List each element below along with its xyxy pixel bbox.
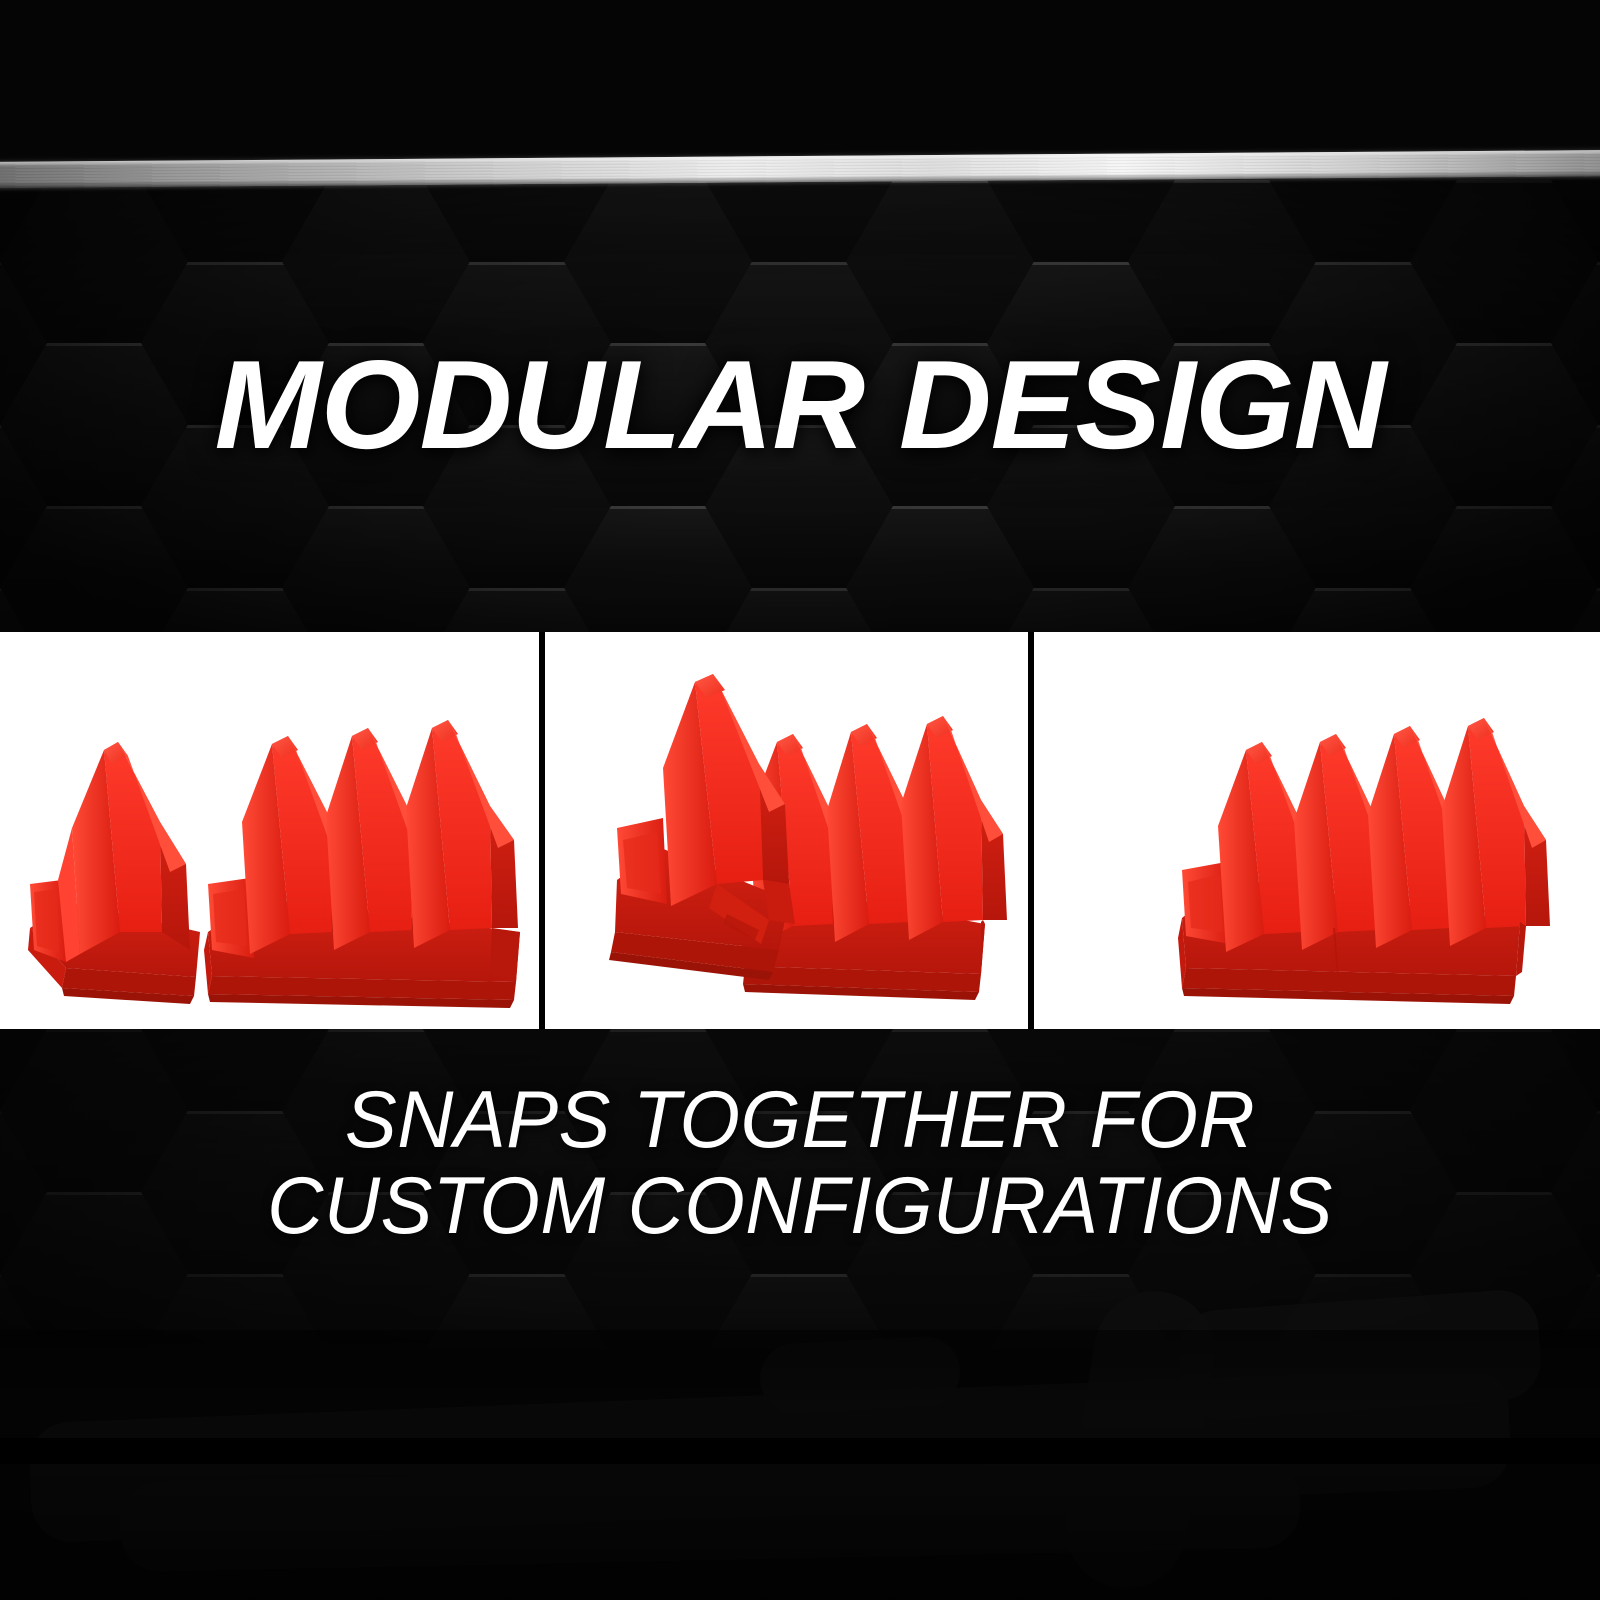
infographic-canvas: MODULAR DESIGN <box>0 0 1600 1600</box>
subtitle-block: SNAPS TOGETHER FOR CUSTOM CONFIGURATIONS <box>32 1078 1568 1250</box>
single-slot-holder <box>28 742 200 1004</box>
page-title: MODULAR DESIGN <box>0 342 1600 468</box>
subtitle-line-1: SNAPS TOGETHER FOR <box>32 1078 1568 1164</box>
panel-connecting[interactable] <box>545 632 1028 1029</box>
product-image-modules-connecting <box>545 632 1028 1029</box>
product-image-separate-modules <box>0 632 539 1029</box>
four-slot-holder-assembled <box>1178 718 1550 1004</box>
panel-assembled[interactable] <box>1034 632 1600 1029</box>
product-panel-strip <box>0 632 1600 1029</box>
three-slot-holder <box>204 720 520 1008</box>
product-image-assembled-four-slot <box>1034 632 1600 1029</box>
single-slot-holder <box>609 674 795 980</box>
panel-separate[interactable] <box>0 632 539 1029</box>
bottom-fade-overlay <box>0 1330 1600 1600</box>
subtitle-line-2: CUSTOM CONFIGURATIONS <box>32 1164 1568 1250</box>
